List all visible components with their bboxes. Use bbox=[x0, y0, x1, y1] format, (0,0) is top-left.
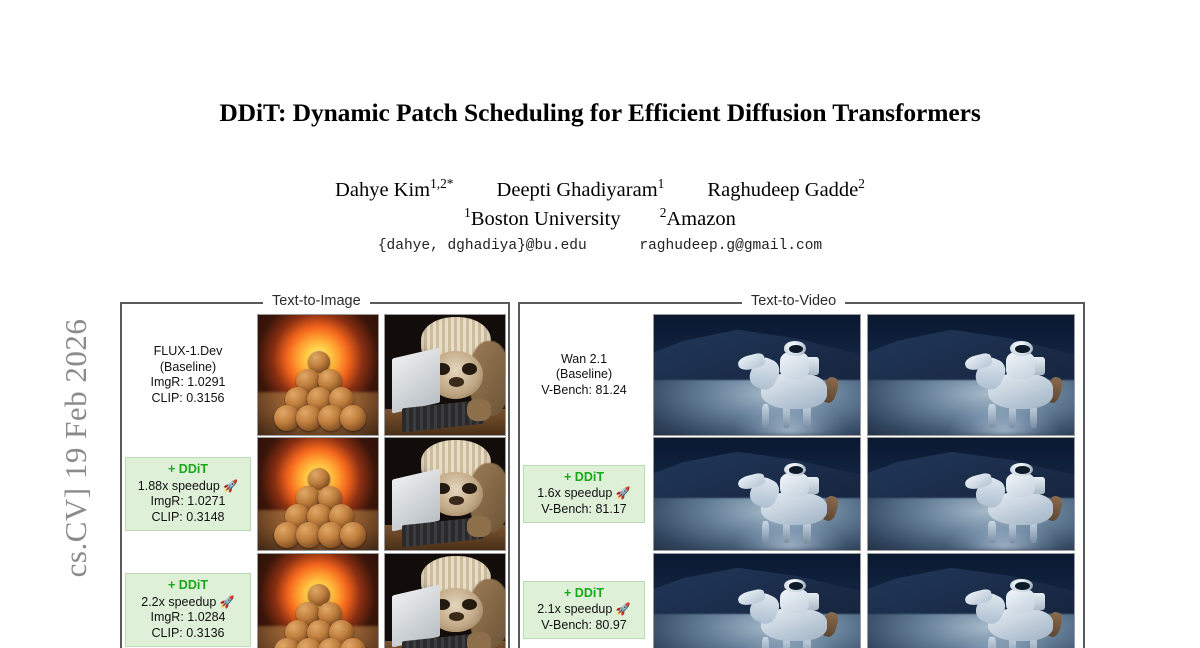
figure-panel-text-to-image: Text-to-Image FLUX-1.Dev (Baseline) ImgR… bbox=[120, 302, 510, 648]
astronaut-horse-frame bbox=[653, 553, 861, 648]
metric-vbench: V-Bench: 81.24 bbox=[520, 383, 648, 399]
sphere bbox=[340, 522, 366, 548]
figure-row: + DDiT 2.1x speedup 🚀 V-Bench: 80.97 bbox=[520, 553, 1075, 648]
row-label-baseline: Wan 2.1 (Baseline) V-Bench: 81.24 bbox=[520, 350, 648, 401]
sloth-laptop-image bbox=[384, 553, 506, 648]
affiliation-marker: 1 bbox=[464, 205, 471, 220]
mountain-ridge bbox=[867, 561, 1075, 619]
speedup-value: 1.88x speedup 🚀 bbox=[126, 479, 250, 495]
author-entry: Dahye Kim1,2* bbox=[335, 179, 453, 201]
astronaut-horse-frame bbox=[867, 437, 1075, 551]
sloth-snout bbox=[449, 377, 465, 387]
astronaut-suit bbox=[780, 352, 809, 378]
metric-vbench: V-Bench: 81.17 bbox=[524, 502, 644, 518]
speedup-value: 2.1x speedup 🚀 bbox=[524, 602, 644, 618]
author-name: Deepti Ghadiyaram bbox=[497, 179, 658, 201]
rocket-icon: 🚀 bbox=[616, 486, 631, 500]
pyramid-sunset-image bbox=[257, 314, 379, 436]
rocket-icon: 🚀 bbox=[223, 479, 238, 493]
row-label-ddit: + DDiT 1.88x speedup 🚀 ImgR: 1.0271 CLIP… bbox=[125, 457, 251, 531]
row-label-ddit: + DDiT 1.6x speedup 🚀 V-Bench: 81.17 bbox=[523, 465, 645, 524]
figure-panel-text-to-video: Text-to-Video Wan 2.1 (Baseline) V-Bench… bbox=[518, 302, 1085, 648]
row-label-ddit: + DDiT 2.1x speedup 🚀 V-Bench: 80.97 bbox=[523, 581, 645, 640]
author-name: Raghudeep Gadde bbox=[707, 179, 858, 201]
horse-leg bbox=[762, 404, 769, 428]
row-label-baseline: FLUX-1.Dev (Baseline) ImgR: 1.0291 CLIP:… bbox=[122, 342, 254, 408]
figure-row: Wan 2.1 (Baseline) V-Bench: 81.24 bbox=[520, 318, 1075, 432]
figure-row: FLUX-1.Dev (Baseline) ImgR: 1.0291 CLIP:… bbox=[122, 318, 506, 432]
email-address: {dahye, dghadiya}@bu.edu bbox=[378, 238, 587, 254]
astronaut-horse-frame bbox=[653, 314, 861, 436]
author-affiliation-marker: 2 bbox=[858, 176, 865, 191]
affiliation-entry: 2Amazon bbox=[660, 208, 736, 230]
horse-leg bbox=[762, 521, 769, 543]
sphere bbox=[340, 405, 366, 431]
panel-legend-text-to-video: Text-to-Video bbox=[742, 293, 845, 309]
astronaut-horse-frame bbox=[867, 314, 1075, 436]
sloth-paw bbox=[467, 399, 491, 421]
ddit-badge: + DDiT bbox=[524, 586, 644, 602]
metric-imgr: ImgR: 1.0271 bbox=[126, 494, 250, 510]
speedup-text: 1.88x speedup bbox=[138, 479, 220, 493]
author-affiliation-marker: 1,2* bbox=[430, 176, 453, 191]
speedup-text: 2.1x speedup bbox=[537, 602, 612, 616]
astronaut-horse-frame bbox=[867, 553, 1075, 648]
figure-row: + DDiT 1.88x speedup 🚀 ImgR: 1.0271 CLIP… bbox=[122, 437, 506, 551]
helmet-visor bbox=[789, 582, 803, 590]
astronaut-suit bbox=[1006, 473, 1035, 498]
figure-row: + DDiT 2.2x speedup 🚀 ImgR: 1.0284 CLIP:… bbox=[122, 553, 506, 648]
author-affiliation-marker: 1 bbox=[658, 176, 665, 191]
model-name: FLUX-1.Dev bbox=[122, 344, 254, 360]
sloth-paw bbox=[467, 632, 491, 648]
ddit-badge: + DDiT bbox=[126, 462, 250, 478]
horse-leg bbox=[988, 404, 995, 428]
pyramid-sunset-image bbox=[257, 553, 379, 648]
arxiv-stamp: cs.CV] 19 Feb 2026 bbox=[52, 268, 100, 628]
email-address: raghudeep.g@gmail.com bbox=[639, 238, 822, 254]
mountain-ridge bbox=[867, 322, 1075, 384]
affiliation-list: 1Boston University 2Amazon bbox=[0, 205, 1200, 231]
email-list: {dahye, dghadiya}@bu.edu raghudeep.g@gma… bbox=[0, 238, 1200, 254]
ddit-badge: + DDiT bbox=[524, 470, 644, 486]
astronaut-suit bbox=[780, 473, 809, 498]
helmet-visor bbox=[1015, 466, 1029, 474]
speedup-value: 2.2x speedup 🚀 bbox=[126, 595, 250, 611]
speedup-text: 2.2x speedup bbox=[141, 595, 216, 609]
model-variant: (Baseline) bbox=[122, 360, 254, 376]
metric-vbench: V-Bench: 80.97 bbox=[524, 618, 644, 634]
author-list: Dahye Kim1,2* Deepti Ghadiyaram1 Raghude… bbox=[0, 176, 1200, 202]
affiliation-name: Boston University bbox=[471, 208, 621, 230]
author-name: Dahye Kim bbox=[335, 179, 430, 201]
astronaut-suit bbox=[1006, 352, 1035, 378]
metric-imgr: ImgR: 1.0284 bbox=[126, 610, 250, 626]
author-entry: Raghudeep Gadde2 bbox=[707, 179, 865, 201]
astronaut-horse-frame bbox=[653, 437, 861, 551]
helmet-visor bbox=[789, 466, 803, 474]
mountain-ridge bbox=[867, 445, 1075, 503]
sloth-laptop-image bbox=[384, 314, 506, 436]
model-name: Wan 2.1 bbox=[520, 352, 648, 368]
rocket-icon: 🚀 bbox=[616, 602, 631, 616]
speedup-text: 1.6x speedup bbox=[537, 486, 612, 500]
sloth-laptop-image bbox=[384, 437, 506, 551]
horse-leg bbox=[762, 637, 769, 648]
metric-clip: CLIP: 0.3148 bbox=[126, 510, 250, 526]
rocket-icon: 🚀 bbox=[220, 595, 235, 609]
row-label-ddit: + DDiT 2.2x speedup 🚀 ImgR: 1.0284 CLIP:… bbox=[125, 573, 251, 647]
astronaut-suit bbox=[1006, 589, 1035, 614]
affiliation-name: Amazon bbox=[666, 208, 735, 230]
pyramid-sunset-image bbox=[257, 437, 379, 551]
horse-leg bbox=[988, 521, 995, 543]
metric-clip: CLIP: 0.3156 bbox=[122, 391, 254, 407]
author-entry: Deepti Ghadiyaram1 bbox=[497, 179, 665, 201]
ddit-badge: + DDiT bbox=[126, 578, 250, 594]
helmet-visor bbox=[1015, 582, 1029, 590]
speedup-value: 1.6x speedup 🚀 bbox=[524, 486, 644, 502]
metric-imgr: ImgR: 1.0291 bbox=[122, 375, 254, 391]
model-variant: (Baseline) bbox=[520, 367, 648, 383]
metric-clip: CLIP: 0.3136 bbox=[126, 626, 250, 642]
sloth-paw bbox=[467, 516, 491, 536]
astronaut-suit bbox=[780, 589, 809, 614]
horse-leg bbox=[988, 637, 995, 648]
affiliation-entry: 1Boston University bbox=[464, 208, 620, 230]
panel-legend-text-to-image: Text-to-Image bbox=[263, 293, 370, 309]
page-title: DDiT: Dynamic Patch Scheduling for Effic… bbox=[0, 98, 1200, 128]
figure-row: + DDiT 1.6x speedup 🚀 V-Bench: 81.17 bbox=[520, 437, 1075, 551]
